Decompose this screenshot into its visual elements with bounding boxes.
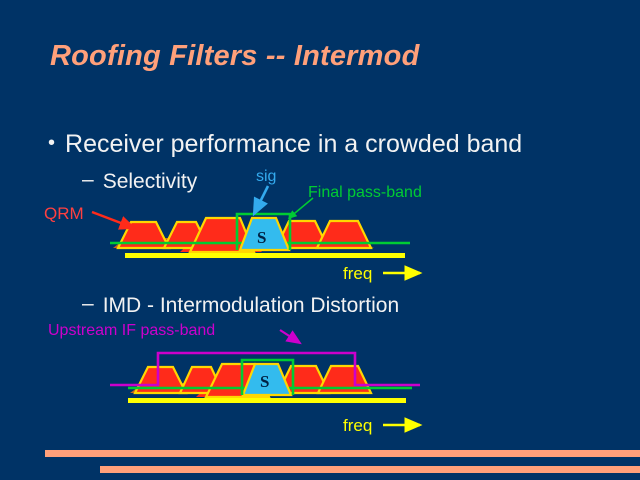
signal-letter-bottom: S xyxy=(260,372,269,391)
final-passband-label: Final pass-band xyxy=(308,184,422,202)
spectrum-diagram-selectivity: S S xyxy=(0,0,640,480)
footer-bar-bottom xyxy=(100,466,640,473)
slide-canvas: Roofing Filters -- Intermod •Receiver pe… xyxy=(0,0,640,480)
baseline-bar-top xyxy=(125,253,405,258)
qrm-arrow xyxy=(92,212,134,228)
baseline-bar-bottom xyxy=(128,398,406,403)
signal-letter-top: S xyxy=(257,228,266,247)
qrm-label: QRM xyxy=(44,204,84,224)
freq-label-top: freq xyxy=(343,264,372,284)
upstream-if-passband-arrow xyxy=(280,330,300,343)
sig-label: sig xyxy=(256,168,276,186)
freq-label-bottom: freq xyxy=(343,416,372,436)
upstream-if-label: Upstream IF pass-band xyxy=(48,322,215,340)
sig-arrow xyxy=(254,186,268,214)
footer-bar-top xyxy=(45,450,640,457)
